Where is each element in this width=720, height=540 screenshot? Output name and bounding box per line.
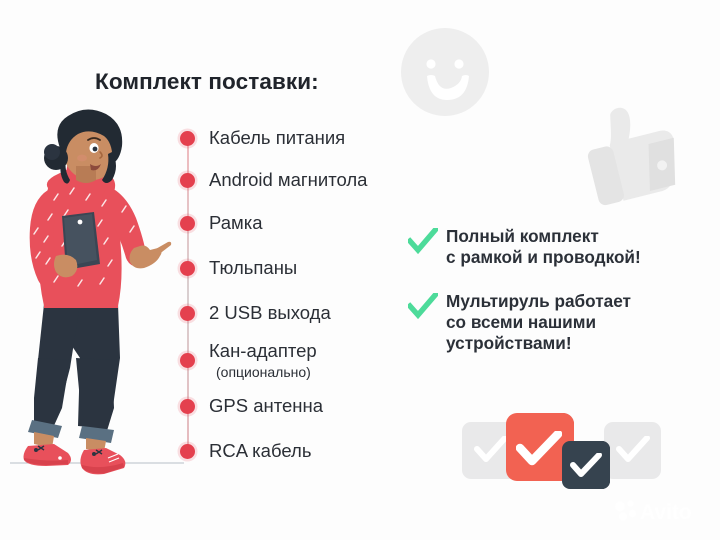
benefit-text: Полный комплект с рамкой и проводкой! [446, 226, 641, 268]
svg-text:Avito: Avito [640, 501, 692, 524]
bullet-dot-icon [180, 399, 195, 414]
list-item-label: GPS антенна [209, 396, 323, 416]
benefit-text: Мультируль работает со всеми нашими устр… [446, 291, 631, 354]
list-item-label: Android магнитола [209, 170, 367, 190]
list-item-label: Рамка [209, 213, 263, 233]
page-title: Комплект поставки: [95, 69, 319, 95]
smiley-face-icon [399, 26, 491, 118]
list-item-label: Кабель питания [209, 128, 345, 148]
delivery-list: Кабель питания Android магнитола Рамка Т… [176, 128, 426, 468]
bullet-dot-icon [180, 131, 195, 146]
check-tick-icon [474, 436, 508, 464]
bullet-dot-icon [180, 261, 195, 276]
check-tick-icon [616, 436, 650, 464]
green-check-icon [408, 293, 438, 321]
bullet-dot-icon [180, 353, 195, 368]
list-item-sublabel: (опционально) [216, 364, 311, 380]
bullet-dot-icon [180, 306, 195, 321]
list-item-label: RCA кабель [209, 441, 311, 461]
bullet-dot-icon [180, 444, 195, 459]
thumbs-up-icon [572, 94, 694, 210]
list-item-label: Тюльпаны [209, 258, 297, 278]
bullet-dot-icon [180, 173, 195, 188]
poster-canvas: Комплект поставки: [0, 0, 720, 540]
person-illustration [8, 108, 184, 508]
check-tick-icon [570, 453, 602, 479]
checkbox-card-group [462, 409, 662, 499]
list-item-label: Кан-адаптер [209, 341, 317, 361]
check-tick-icon [516, 431, 562, 467]
green-check-icon [408, 228, 438, 256]
bullet-dot-icon [180, 216, 195, 231]
avito-watermark: Avito [613, 498, 709, 524]
list-item-label: 2 USB выхода [209, 303, 331, 323]
